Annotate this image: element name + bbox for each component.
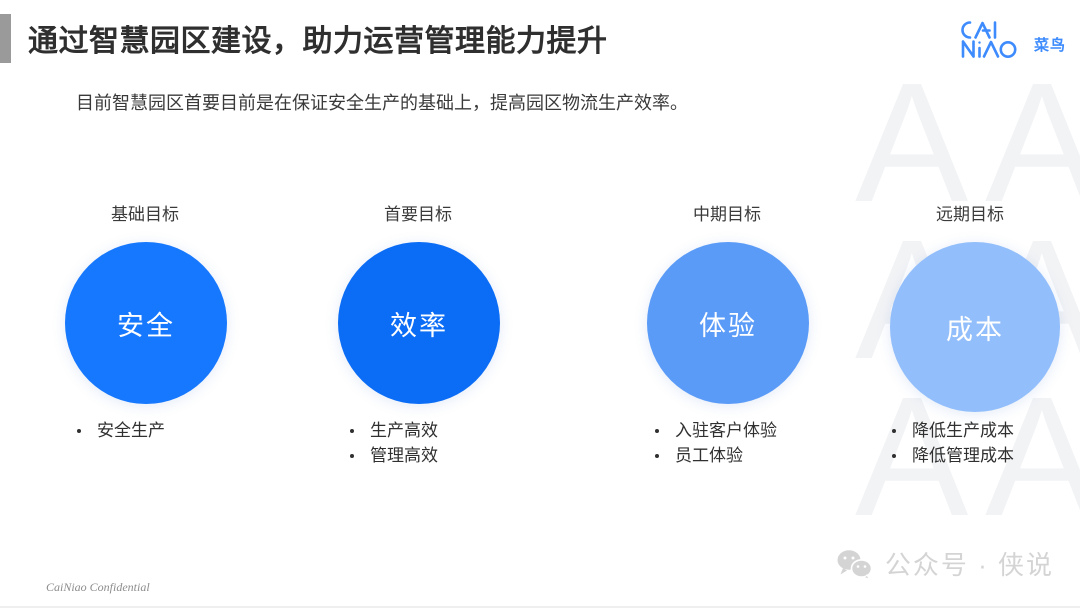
logo-chinese-name: 菜鸟 xyxy=(1034,38,1066,53)
list-item: 降低生产成本 xyxy=(886,418,1014,443)
goal-circle[interactable]: 效率 xyxy=(338,242,500,404)
list-item: 员工体验 xyxy=(649,443,777,468)
goal-bullet-list: 降低生产成本 降低管理成本 xyxy=(886,418,1014,468)
list-item: 入驻客户体验 xyxy=(649,418,777,443)
cainiao-logo-icon xyxy=(956,19,1028,59)
goal-circle[interactable]: 成本 xyxy=(890,242,1060,412)
cainiao-logo: 菜鸟 xyxy=(956,19,1066,59)
list-item: 管理高效 xyxy=(344,443,438,468)
goal-circle[interactable]: 体验 xyxy=(647,242,809,404)
goal-bullet-list: 安全生产 xyxy=(71,418,165,443)
watermark-text: 公众号 · 侠说 xyxy=(885,545,1054,582)
list-item: 降低管理成本 xyxy=(886,443,1014,468)
wechat-watermark: 公众号 · 侠说 xyxy=(835,545,1054,582)
subtitle-text: 目前智慧园区首要目前是在保证安全生产的基础上，提高园区物流生产效率。 xyxy=(76,89,688,115)
goal-label: 首要目标 xyxy=(318,200,518,225)
goal-label: 基础目标 xyxy=(45,200,245,225)
goal-circle[interactable]: 安全 xyxy=(65,242,227,404)
confidential-note: CaiNiao Confidential xyxy=(46,580,150,595)
goal-label: 远期目标 xyxy=(870,200,1070,225)
goal-label: 中期目标 xyxy=(627,200,827,225)
goal-bullet-list: 入驻客户体验 员工体验 xyxy=(649,418,777,468)
wechat-icon xyxy=(835,548,875,580)
goal-bullet-list: 生产高效 管理高效 xyxy=(344,418,438,468)
title-accent-bar xyxy=(0,14,11,63)
list-item: 安全生产 xyxy=(71,418,165,443)
list-item: 生产高效 xyxy=(344,418,438,443)
page-title: 通过智慧园区建设，助力运营管理能力提升 xyxy=(28,16,608,60)
slide-canvas: A A A A A A 通过智慧园区建设，助力运营管理能力提升 菜鸟 xyxy=(0,0,1080,608)
